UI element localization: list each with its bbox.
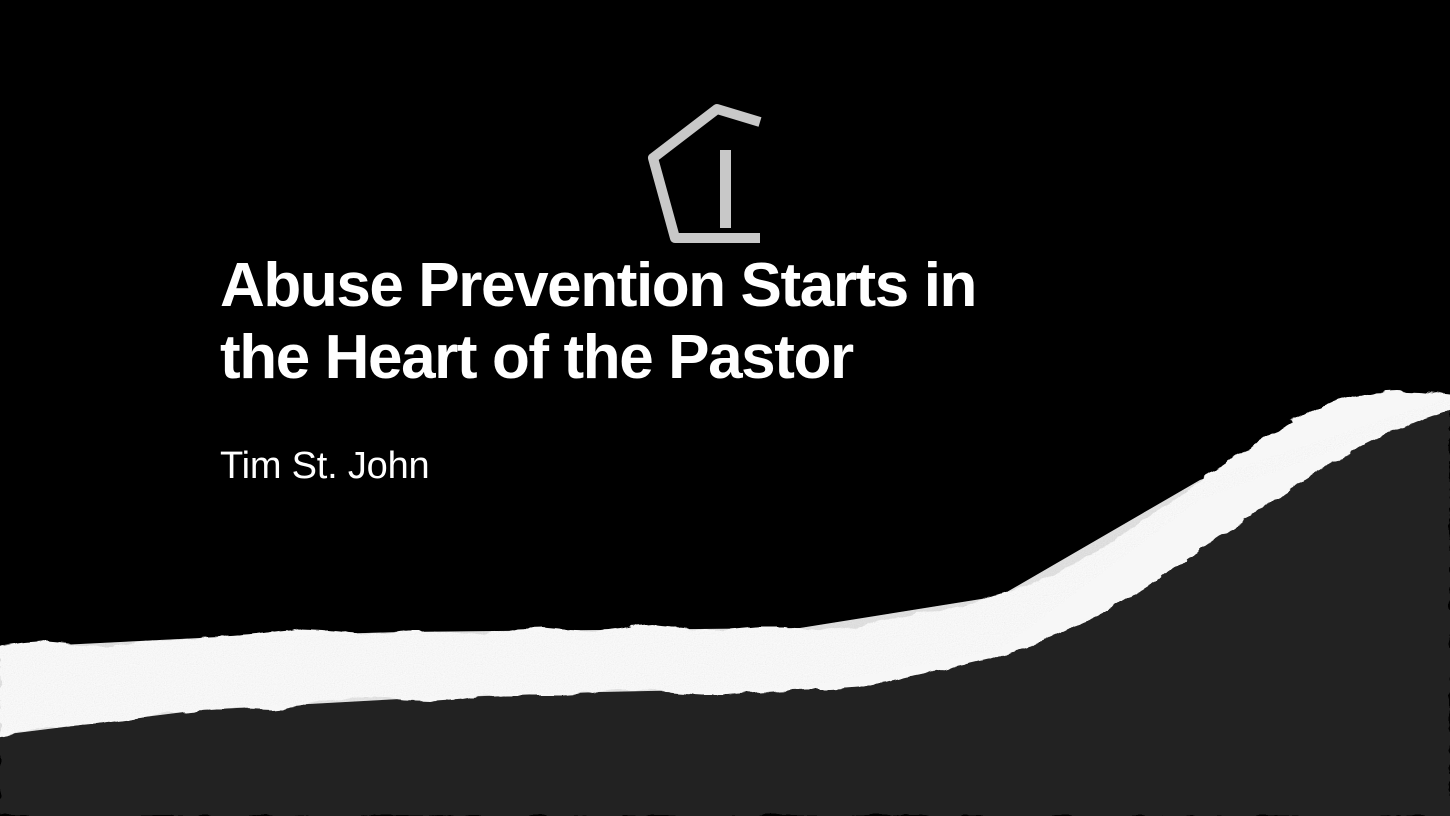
page-title: Abuse Prevention Starts in the Heart of … [220,250,1270,394]
presenter-name: Tim St. John [220,394,1270,488]
title-slide: Abuse Prevention Starts in the Heart of … [0,0,1450,816]
logo [641,100,791,250]
slide-text-block: Abuse Prevention Starts in the Heart of … [220,250,1270,488]
pentagon-house-outline-icon [641,100,791,250]
